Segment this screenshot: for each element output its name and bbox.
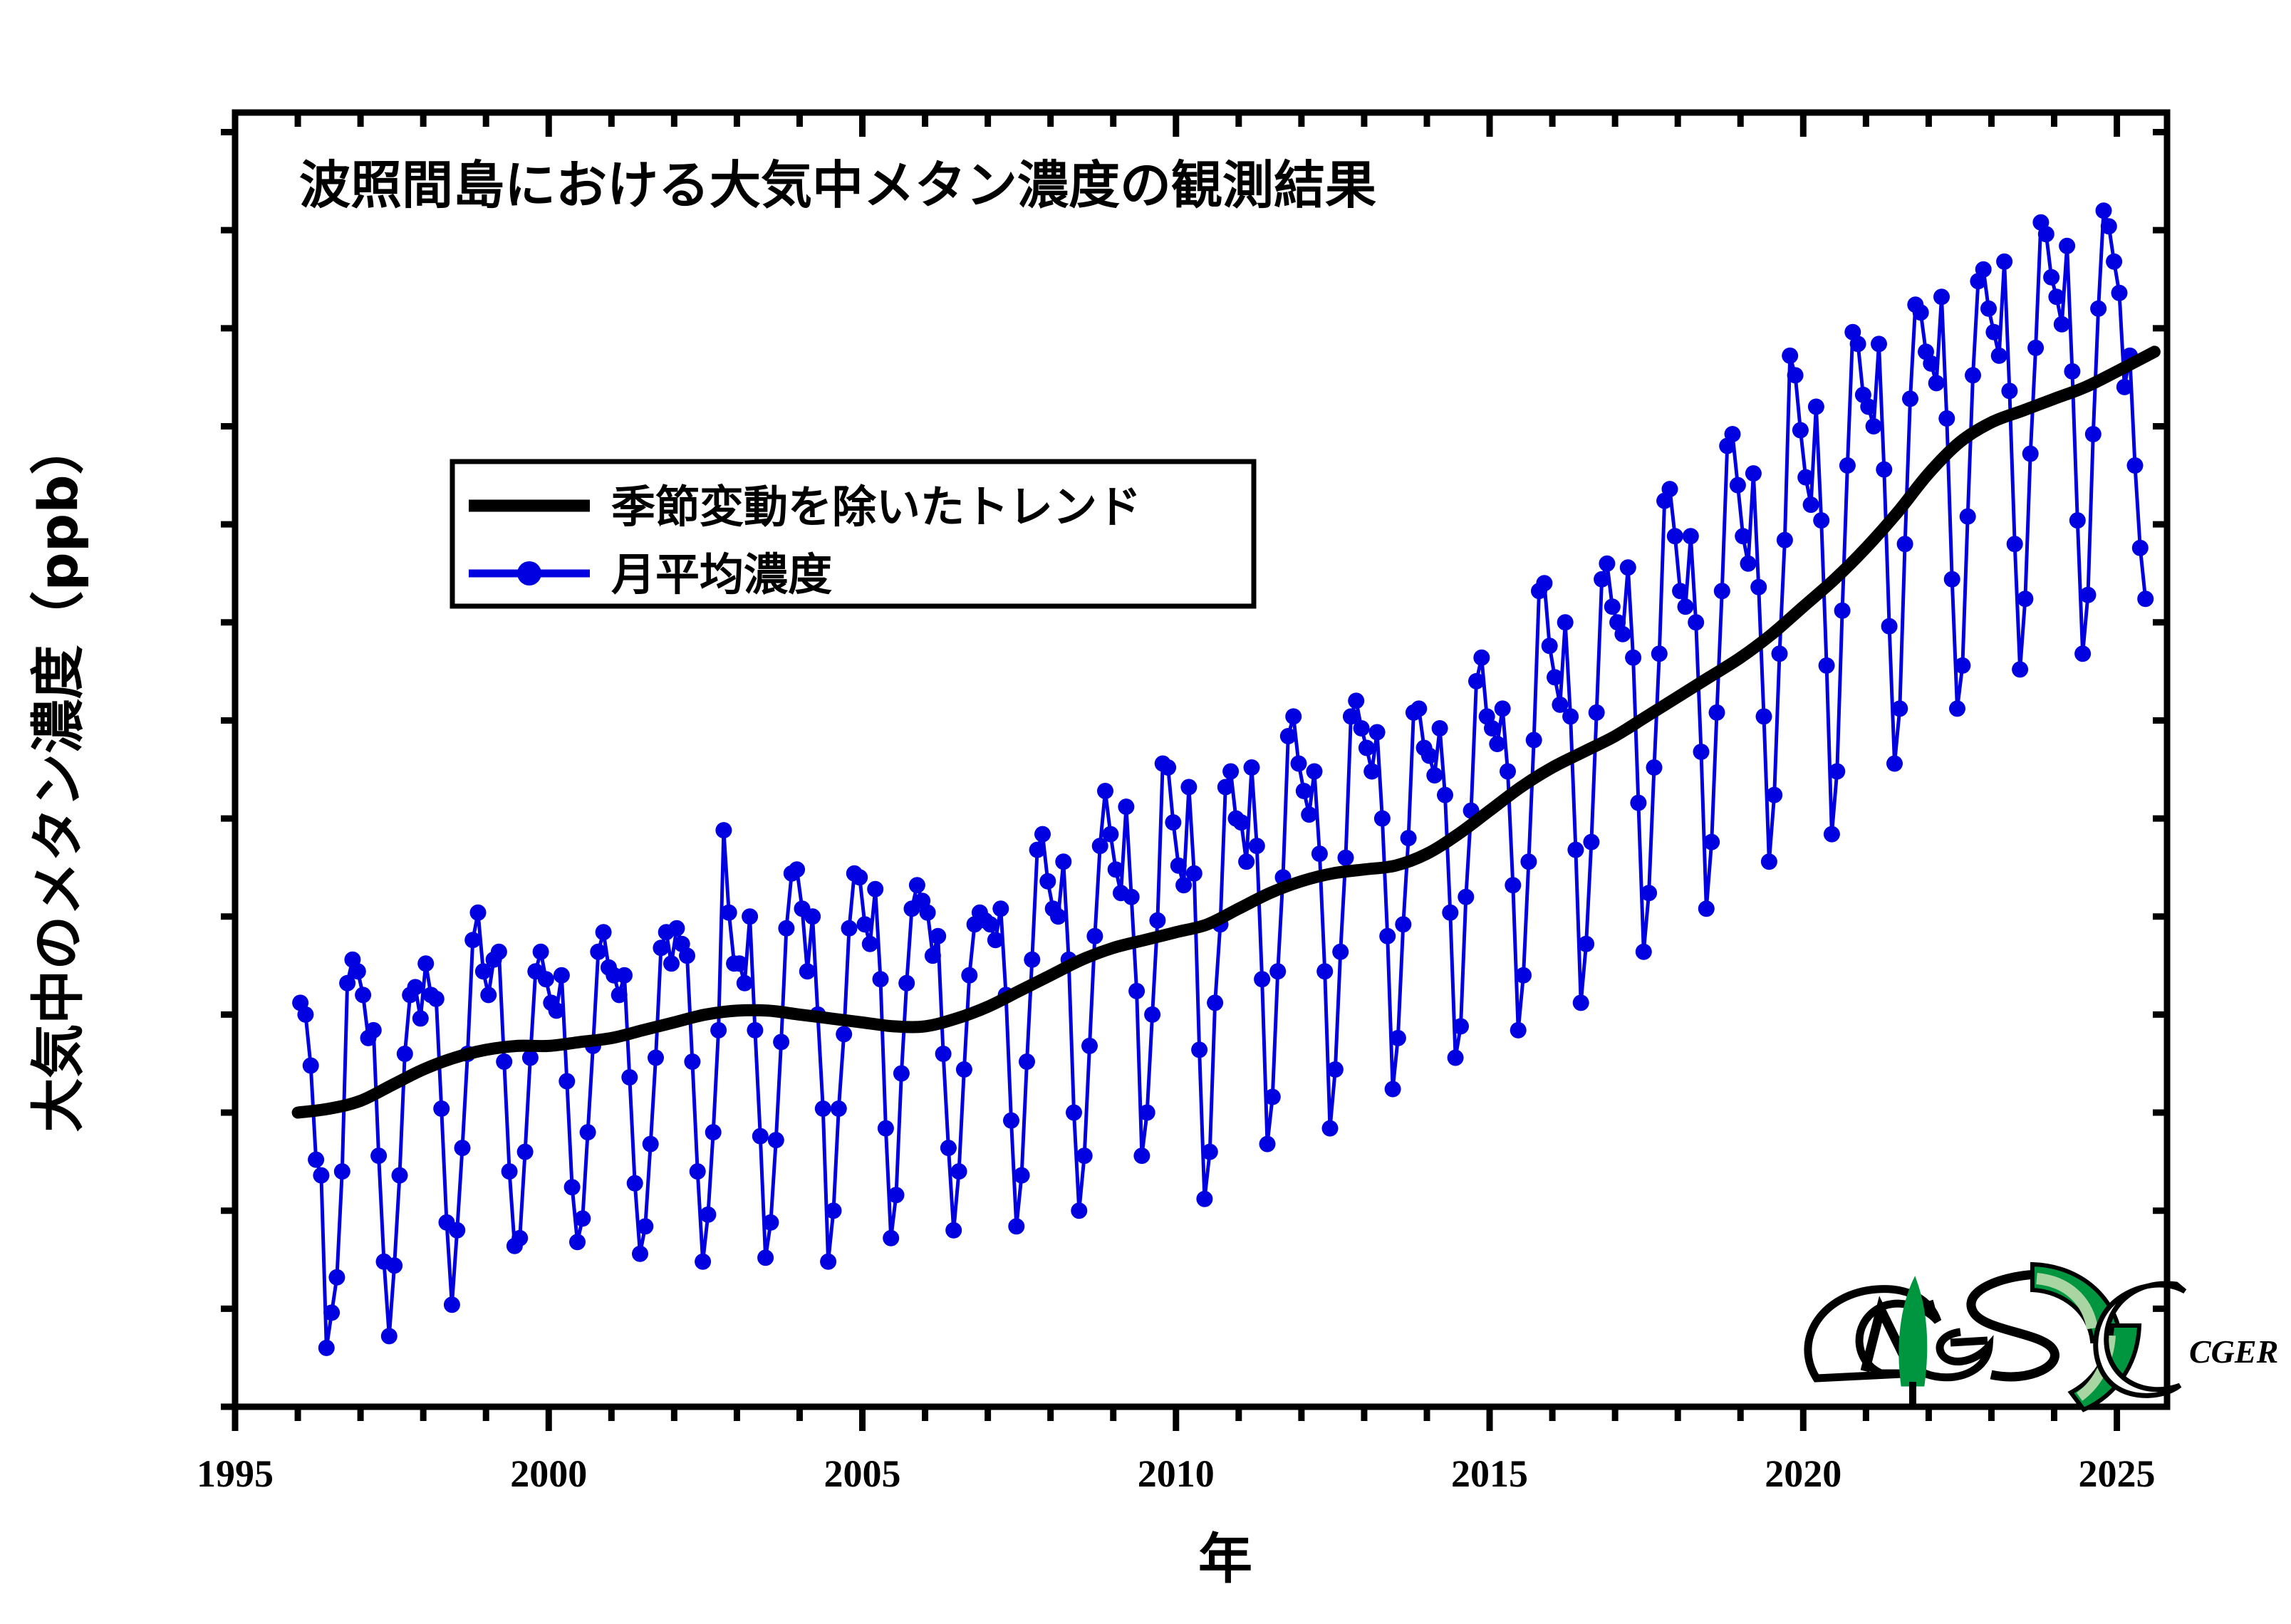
legend-label-trend: 季節変動を除いたトレンド	[611, 481, 1141, 533]
data-point-monthly	[1662, 481, 1678, 497]
y-axis-label: 大気中のメタン濃度（ppb）	[26, 420, 90, 1132]
data-point-monthly	[590, 944, 606, 960]
data-point-monthly	[1683, 528, 1699, 544]
data-point-monthly	[564, 1179, 581, 1195]
data-point-monthly	[930, 928, 946, 944]
data-point-monthly	[883, 1230, 899, 1246]
data-point-monthly	[1233, 814, 1250, 831]
data-point-monthly	[303, 1058, 319, 1074]
data-point-monthly	[773, 1034, 789, 1050]
data-point-monthly	[747, 1022, 763, 1039]
data-point-monthly	[1667, 528, 1683, 544]
data-point-monthly	[668, 920, 685, 937]
data-point-monthly	[632, 1246, 648, 1262]
data-point-monthly	[397, 1046, 413, 1062]
x-tick-label: 2020	[1765, 1452, 1841, 1495]
x-tick-label: 1995	[197, 1452, 274, 1495]
data-point-monthly	[1207, 994, 1223, 1011]
data-point-monthly	[444, 1296, 460, 1313]
data-point-monthly	[789, 861, 805, 878]
data-point-monthly	[334, 1163, 350, 1180]
data-point-monthly	[920, 905, 936, 921]
data-point-monthly	[778, 920, 794, 937]
data-point-monthly	[1625, 650, 1641, 666]
data-point-monthly	[1097, 783, 1113, 799]
x-axis-label: 年	[1198, 1527, 1252, 1591]
data-point-monthly	[1489, 736, 1505, 752]
data-point-monthly	[1363, 764, 1380, 780]
data-point-monthly	[804, 908, 821, 925]
cger-logo-text: CGER	[2189, 1333, 2278, 1370]
data-point-monthly	[559, 1073, 575, 1090]
data-point-monthly	[653, 939, 669, 956]
data-point-monthly	[365, 1022, 382, 1039]
data-point-monthly	[757, 1249, 774, 1266]
data-point-monthly	[1902, 390, 1918, 407]
data-point-monthly	[1881, 618, 1898, 635]
data-point-monthly	[1813, 512, 1829, 529]
data-point-monthly	[355, 987, 371, 1003]
data-point-monthly	[648, 1050, 664, 1066]
data-point-monthly	[1678, 598, 1694, 615]
data-point-monthly	[1777, 532, 1793, 548]
data-point-monthly	[392, 1167, 408, 1184]
data-point-monthly	[1834, 603, 1851, 619]
data-point-monthly	[470, 905, 487, 921]
data-point-monthly	[1871, 335, 1887, 352]
data-point-monthly	[1411, 700, 1427, 717]
data-point-monthly	[2059, 238, 2075, 254]
data-point-monthly	[1024, 952, 1040, 968]
data-point-monthly	[496, 1053, 512, 1070]
data-point-monthly	[768, 1132, 784, 1148]
data-point-monthly	[1144, 1006, 1160, 1023]
data-point-monthly	[574, 1210, 591, 1227]
data-point-monthly	[1599, 556, 1615, 572]
data-point-monthly	[627, 1175, 643, 1192]
data-point-monthly	[2022, 446, 2039, 462]
data-point-monthly	[1055, 853, 1071, 870]
data-point-monthly	[2012, 661, 2028, 677]
data-point-monthly	[909, 877, 925, 893]
data-point-monthly	[1897, 536, 1913, 552]
data-point-monthly	[1495, 700, 1511, 717]
data-point-monthly	[925, 947, 941, 964]
data-point-monthly	[1259, 1136, 1276, 1152]
data-point-monthly	[1484, 720, 1500, 736]
data-point-monthly	[815, 1100, 831, 1117]
data-point-monthly	[1938, 410, 1955, 427]
data-point-monthly	[1620, 559, 1636, 576]
data-point-monthly	[1180, 779, 1197, 796]
data-point-monthly	[1819, 657, 1835, 674]
data-point-monthly	[350, 963, 366, 979]
page-title: 波照間島における大気中メタン濃度の観測結果	[299, 155, 1376, 215]
data-point-monthly	[1014, 1167, 1030, 1184]
data-point-monthly	[637, 1218, 653, 1234]
data-point-monthly	[1149, 912, 1165, 929]
data-point-monthly	[1448, 1050, 1464, 1066]
data-point-monthly	[1139, 1105, 1155, 1121]
data-point-monthly	[987, 932, 1004, 948]
data-point-monthly	[1133, 1147, 1150, 1164]
data-point-monthly	[1996, 254, 2012, 270]
data-point-monthly	[1547, 669, 1563, 685]
data-point-monthly	[684, 1053, 700, 1070]
data-point-monthly	[1583, 834, 1599, 850]
data-point-monthly	[1442, 905, 1458, 921]
data-point-monthly	[1165, 814, 1181, 831]
data-point-monthly	[1500, 764, 1516, 780]
chart-figure: 1995200020052010201520202025 波照間島における大気中…	[0, 0, 2291, 1624]
data-point-monthly	[762, 1214, 779, 1231]
data-point-monthly	[1782, 348, 1798, 364]
data-point-monthly	[1280, 728, 1297, 744]
data-point-monthly	[1589, 704, 1605, 721]
data-point-monthly	[2106, 254, 2122, 270]
data-point-monthly	[1730, 477, 1746, 494]
data-point-monthly	[480, 987, 497, 1003]
data-point-monthly	[878, 1120, 894, 1137]
data-point-monthly	[1222, 764, 1239, 780]
data-point-monthly	[851, 869, 868, 885]
data-point-monthly	[1354, 720, 1370, 736]
data-point-monthly	[742, 908, 758, 925]
data-point-monthly	[695, 1254, 711, 1270]
data-point-monthly	[1803, 496, 1819, 513]
data-point-monthly	[1709, 704, 1725, 721]
data-point-monthly	[1750, 579, 1767, 595]
data-point-monthly	[386, 1257, 402, 1274]
data-point-monthly	[1432, 720, 1448, 736]
data-point-monthly	[533, 944, 549, 960]
data-point-monthly	[1338, 850, 1354, 866]
data-point-monthly	[1359, 740, 1375, 756]
data-point-monthly	[1348, 692, 1364, 709]
data-point-monthly	[433, 1100, 450, 1117]
x-tick-label: 2005	[824, 1452, 901, 1495]
data-point-monthly	[1651, 645, 1668, 662]
data-point-monthly	[1322, 1120, 1339, 1137]
data-point-monthly	[1876, 462, 1892, 478]
data-point-monthly	[1542, 637, 1558, 654]
data-point-monthly	[831, 1100, 847, 1117]
legend: 季節変動を除いたトレンド 月平均濃度	[452, 462, 1254, 606]
data-point-monthly	[1008, 1218, 1024, 1234]
data-point-monthly	[517, 1144, 534, 1160]
data-point-monthly	[1468, 673, 1485, 689]
data-point-monthly	[951, 1163, 967, 1180]
data-point-monthly	[862, 936, 878, 952]
data-point-monthly	[1954, 657, 1970, 674]
data-point-monthly	[679, 947, 695, 964]
data-point-monthly	[2116, 379, 2133, 395]
data-point-monthly	[1102, 826, 1118, 843]
data-point-monthly	[1944, 571, 1960, 588]
data-point-monthly	[1578, 936, 1594, 952]
data-point-monthly	[700, 1207, 716, 1223]
data-point-monthly	[1698, 900, 1715, 917]
data-point-monthly	[690, 1163, 706, 1180]
data-point-monthly	[2080, 587, 2097, 603]
data-point-monthly	[1745, 465, 1762, 482]
data-point-monthly	[370, 1147, 387, 1164]
data-point-monthly	[328, 1269, 345, 1286]
data-point-monthly	[1787, 367, 1804, 383]
data-point-monthly	[308, 1152, 324, 1168]
data-point-monthly	[1960, 509, 1976, 525]
data-point-monthly	[1526, 732, 1542, 749]
data-point-monthly	[621, 1069, 638, 1086]
data-point-monthly	[1824, 826, 1840, 843]
data-point-monthly	[1567, 842, 1584, 858]
data-point-monthly	[1327, 1061, 1344, 1078]
data-point-monthly	[2090, 301, 2106, 317]
data-point-monthly	[1604, 598, 1621, 615]
data-point-monthly	[1426, 767, 1443, 784]
data-point-monthly	[1839, 457, 1856, 474]
data-point-monthly	[1369, 724, 1386, 741]
data-point-monthly	[1244, 759, 1260, 776]
data-point-monthly	[2074, 645, 2091, 662]
data-point-monthly	[1923, 355, 1939, 372]
cger-logo: CGER	[2032, 1264, 2278, 1410]
data-point-monthly	[1379, 928, 1396, 944]
data-point-monthly	[580, 1124, 596, 1140]
data-point-monthly	[1850, 335, 1866, 352]
x-axis-tick-labels: 1995200020052010201520202025	[197, 1452, 2156, 1495]
data-point-monthly	[1264, 1089, 1281, 1105]
data-point-monthly	[511, 1230, 528, 1246]
data-point-monthly	[2127, 457, 2144, 474]
data-point-monthly	[1536, 575, 1552, 591]
data-point-monthly	[1269, 963, 1286, 979]
data-point-monthly	[799, 963, 816, 979]
data-point-monthly	[1437, 787, 1453, 803]
data-point-monthly	[1672, 583, 1688, 599]
data-point-monthly	[1766, 787, 1782, 803]
data-point-monthly	[569, 1234, 586, 1250]
data-point-monthly	[752, 1128, 769, 1145]
data-point-monthly	[1453, 1018, 1469, 1034]
data-point-monthly	[1186, 865, 1202, 882]
data-point-monthly	[1949, 700, 1965, 717]
data-point-monthly	[1886, 756, 1903, 772]
data-point-monthly	[1641, 885, 1657, 901]
data-point-monthly	[596, 924, 612, 940]
data-point-monthly	[1081, 1038, 1098, 1054]
data-point-monthly	[1395, 916, 1411, 932]
data-point-monthly	[1980, 301, 1997, 317]
data-point-monthly	[1039, 873, 1056, 890]
data-point-monthly	[731, 955, 747, 972]
data-point-monthly	[1390, 1030, 1406, 1046]
data-point-monthly	[1086, 928, 1103, 944]
data-point-monthly	[956, 1061, 972, 1078]
data-point-monthly	[1866, 418, 1882, 434]
data-point-monthly	[1891, 700, 1908, 717]
data-point-monthly	[2027, 340, 2044, 356]
data-point-monthly	[1019, 1053, 1035, 1070]
data-point-monthly	[1050, 908, 1066, 925]
data-point-monthly	[935, 1046, 952, 1062]
x-tick-label: 2025	[2079, 1452, 2156, 1495]
data-point-monthly	[1003, 1113, 1019, 1129]
data-point-monthly	[1928, 375, 1945, 391]
data-point-monthly	[2101, 218, 2117, 234]
data-point-monthly	[1385, 1081, 1401, 1098]
data-point-monthly	[2111, 285, 2128, 301]
data-point-monthly	[412, 1010, 429, 1026]
data-point-monthly	[1965, 367, 1981, 383]
data-point-monthly	[1557, 614, 1574, 630]
data-point-monthly	[841, 920, 858, 937]
x-tick-label: 2010	[1138, 1452, 1215, 1495]
data-point-monthly	[428, 991, 445, 1007]
data-point-monthly	[549, 1002, 565, 1019]
data-point-monthly	[1792, 422, 1809, 439]
data-point-monthly	[1332, 944, 1349, 960]
data-point-monthly	[1123, 889, 1140, 905]
data-point-monthly	[297, 1006, 313, 1023]
data-point-monthly	[1636, 944, 1652, 960]
data-point-monthly	[2069, 512, 2086, 529]
data-point-monthly	[1202, 1144, 1218, 1160]
data-point-monthly	[1933, 288, 1950, 305]
data-point-monthly	[982, 916, 999, 932]
data-point-monthly	[1285, 708, 1302, 724]
data-point-monthly	[1688, 614, 1704, 630]
data-point-monthly	[1515, 967, 1532, 984]
data-point-monthly	[1756, 708, 1772, 724]
data-point-monthly	[1808, 399, 1824, 415]
data-point-monthly	[2001, 382, 2017, 399]
series-monthly-mean	[292, 202, 2154, 1356]
data-point-monthly	[318, 1340, 335, 1356]
data-point-monthly	[857, 916, 873, 932]
data-point-monthly	[616, 967, 633, 984]
data-point-monthly	[2007, 536, 2023, 552]
legend-label-monthly: 月平均濃度	[611, 548, 832, 600]
data-point-monthly	[1714, 583, 1730, 599]
data-point-monthly	[1029, 842, 1046, 858]
data-point-monthly	[1066, 1105, 1082, 1121]
data-point-monthly	[323, 1304, 340, 1321]
x-tick-label: 2000	[510, 1452, 587, 1495]
data-point-monthly	[1034, 826, 1051, 843]
data-point-monthly	[873, 971, 889, 987]
data-point-monthly	[643, 1136, 659, 1152]
data-point-monthly	[449, 1222, 465, 1239]
data-point-monthly	[961, 967, 977, 984]
data-point-monthly	[1160, 759, 1176, 776]
data-point-monthly	[1374, 811, 1391, 827]
data-point-monthly	[1740, 556, 1757, 572]
data-point-monthly	[826, 1202, 842, 1219]
data-point-monthly	[820, 1254, 836, 1270]
data-point-monthly	[464, 932, 481, 948]
data-point-monthly	[1128, 983, 1145, 999]
data-point-monthly	[663, 955, 680, 972]
data-point-monthly	[1170, 858, 1187, 874]
data-point-monthly	[2043, 269, 2059, 286]
data-point-monthly	[1401, 830, 1417, 846]
data-point-monthly	[502, 1163, 518, 1180]
data-point-monthly	[1985, 324, 2002, 340]
data-point-monthly	[2048, 288, 2064, 305]
data-point-monthly	[1311, 845, 1328, 862]
data-point-monthly	[1860, 399, 1876, 415]
data-point-monthly	[1301, 806, 1317, 823]
data-point-monthly	[1829, 764, 1845, 780]
data-point-monthly	[1118, 798, 1134, 815]
methane-concentration-chart: 1995200020052010201520202025 波照間島における大気中…	[0, 0, 2291, 1624]
data-point-monthly	[1772, 645, 1788, 662]
data-point-monthly	[1510, 1022, 1527, 1039]
data-point-monthly	[715, 822, 732, 838]
data-point-monthly	[1913, 304, 1929, 321]
data-point-monthly	[1594, 571, 1610, 588]
data-point-monthly	[1703, 834, 1720, 850]
data-point-monthly	[417, 955, 434, 972]
data-point-monthly	[407, 979, 424, 995]
data-point-monthly	[2017, 590, 2033, 607]
x-tick-label: 2015	[1451, 1452, 1528, 1495]
data-point-monthly	[1291, 756, 1307, 772]
data-point-monthly	[554, 967, 570, 984]
data-point-monthly	[454, 1140, 471, 1156]
data-point-monthly	[1071, 1202, 1087, 1219]
data-point-monthly	[381, 1328, 398, 1344]
data-point-monthly	[1306, 764, 1323, 780]
data-point-monthly	[737, 975, 753, 991]
data-point-monthly	[1975, 261, 1992, 278]
plot-frame	[235, 113, 2167, 1407]
data-point-monthly	[611, 987, 628, 1003]
data-point-monthly	[1520, 853, 1537, 870]
data-point-monthly	[1458, 889, 1474, 905]
data-point-monthly	[1573, 994, 1589, 1011]
data-point-monthly	[2054, 316, 2070, 333]
data-point-monthly	[1735, 528, 1751, 544]
data-point-monthly	[2096, 202, 2112, 219]
data-point-monthly	[1614, 626, 1631, 642]
data-point-monthly	[1991, 348, 2007, 364]
data-point-monthly	[867, 881, 883, 897]
legend-marker-monthly-icon	[517, 561, 541, 585]
data-point-monthly	[1217, 779, 1234, 796]
data-point-monthly	[2085, 426, 2102, 442]
data-point-monthly	[836, 1026, 852, 1042]
data-point-monthly	[898, 975, 915, 991]
data-point-monthly	[538, 971, 554, 987]
data-point-monthly	[313, 1167, 329, 1184]
data-point-monthly	[1646, 759, 1663, 776]
data-point-monthly	[1108, 861, 1124, 878]
data-point-monthly	[2064, 363, 2080, 380]
data-point-monthly	[1473, 650, 1490, 666]
data-point-monthly	[1076, 1147, 1093, 1164]
data-point-monthly	[1249, 838, 1265, 854]
data-point-monthly	[893, 1066, 910, 1082]
data-point-monthly	[2038, 226, 2054, 242]
data-point-monthly	[1254, 971, 1270, 987]
data-point-monthly	[1562, 708, 1579, 724]
data-point-monthly	[945, 1222, 962, 1239]
data-point-monthly	[2132, 540, 2149, 556]
data-point-monthly	[888, 1187, 905, 1203]
data-point-monthly	[1761, 853, 1777, 870]
